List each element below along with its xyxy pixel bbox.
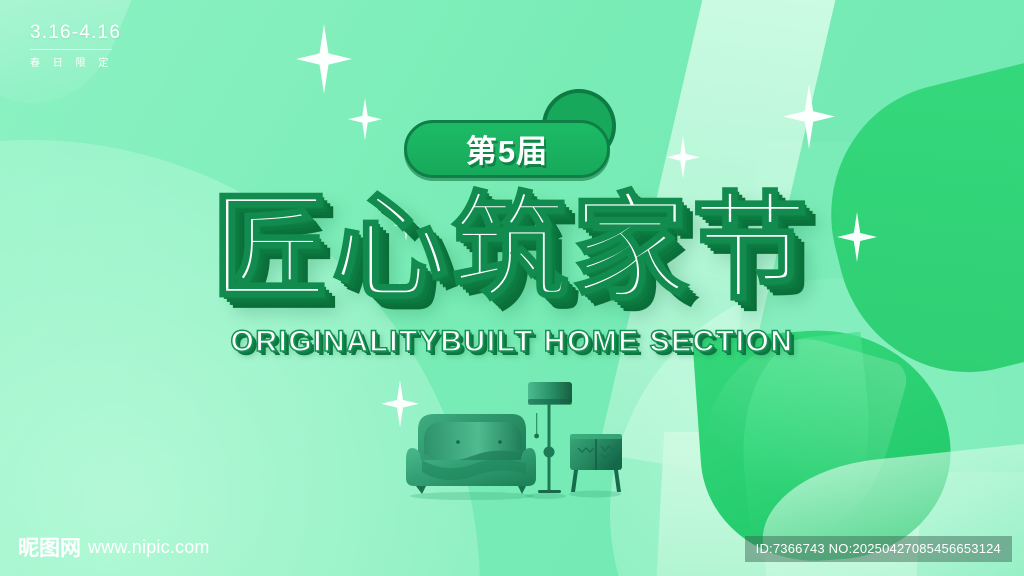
sofa-button-right [498,440,502,444]
date-range-label: 3.16-4.16 [30,22,121,44]
main-title: 匠心筑家节 [0,186,1024,311]
sofa-shadow [410,492,534,500]
edition-badge-label: 第5届 [466,126,548,171]
cabinet-leg-left [571,470,578,492]
poster-canvas: 3.16-4.16 春 日 限 定 第5届 匠心筑家节 ORIGINALITYB… [0,0,1024,576]
sofa-leg-left [416,486,426,494]
watermark-brand: 昵图网 www.nipic.com [18,532,210,562]
edition-badge: 第5届 [404,120,610,178]
watermark-brand-cn: 昵图网 [18,532,81,562]
subtitle: ORIGINALITYBUILT HOME SECTION [0,325,1024,359]
furniture-svg [400,368,640,508]
sofa-button-left [456,440,460,444]
lamp-base [538,490,561,493]
lamp-joint [544,447,555,458]
date-divider [30,49,112,50]
furniture-illustration [400,368,640,508]
season-label: 春 日 限 定 [30,54,121,69]
date-block: 3.16-4.16 春 日 限 定 [30,22,121,69]
cabinet-top [570,434,622,439]
lamp-pull-knob [534,434,539,439]
watermark-brand-url: www.nipic.com [88,537,210,558]
sofa-leg-right [518,486,526,494]
cabinet-leg-right [614,470,621,492]
lamp-shadow [526,493,566,499]
lamp-pull-cord [536,413,537,435]
sideboard-figure [570,434,622,492]
image-id-badge: ID:7366743 NO:20250427085456653124 [745,536,1012,562]
sofa-figure [406,414,536,494]
cabinet-shadow [569,491,621,498]
